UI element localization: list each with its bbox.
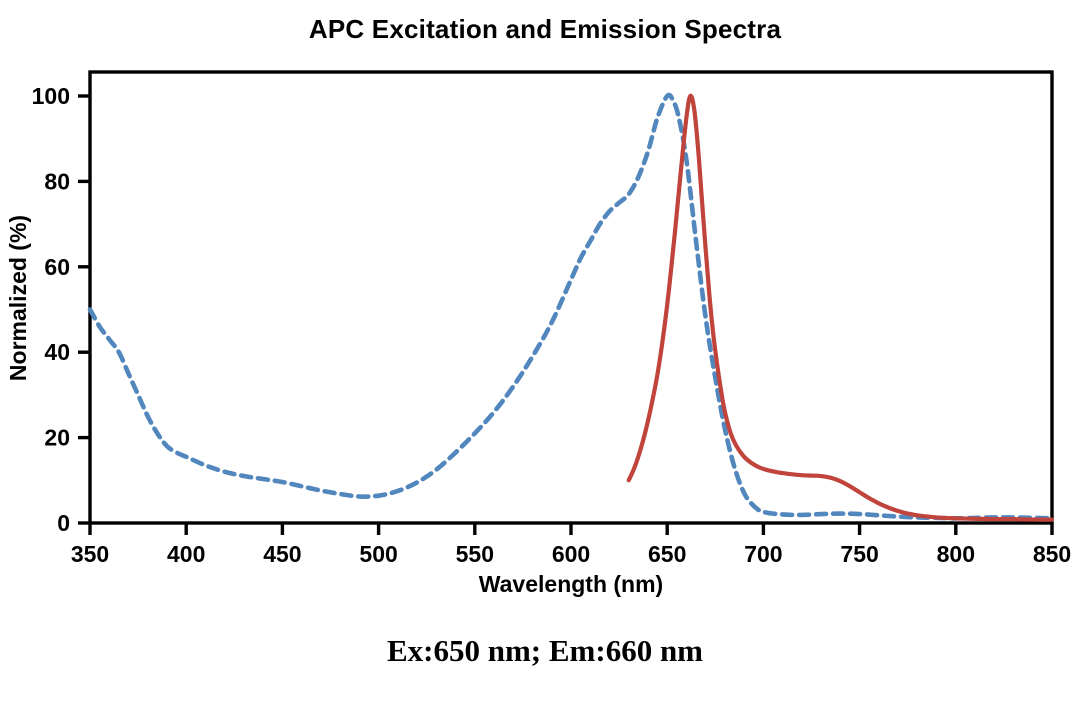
- y-tick-label: 0: [57, 510, 70, 536]
- y-axis-title: Normalized (%): [5, 215, 31, 381]
- x-tick-label: 500: [359, 541, 397, 567]
- y-tick-label: 20: [44, 425, 70, 451]
- x-tick-label: 600: [552, 541, 590, 567]
- plot-frame: [90, 72, 1052, 523]
- x-tick-label: 550: [456, 541, 494, 567]
- series-group: [90, 95, 1052, 520]
- x-tick-label: 650: [648, 541, 686, 567]
- x-tick-label: 800: [937, 541, 975, 567]
- x-tick-label: 350: [71, 541, 109, 567]
- y-tick-label: 40: [44, 339, 70, 365]
- x-tick-label: 850: [1033, 541, 1071, 567]
- x-tick-label: 700: [744, 541, 782, 567]
- x-axis-title: Wavelength (nm): [479, 571, 663, 597]
- y-axis-ticks: 020406080100: [32, 83, 90, 536]
- y-tick-label: 60: [44, 254, 70, 280]
- chart-caption: Ex:650 nm; Em:660 nm: [0, 633, 1090, 669]
- y-tick-label: 80: [44, 168, 70, 194]
- x-tick-label: 750: [840, 541, 878, 567]
- x-axis-ticks: 350400450500550600650700750800850: [71, 523, 1071, 567]
- spectra-plot: 020406080100 350400450500550600650700750…: [0, 0, 1090, 703]
- plot-border: [90, 72, 1052, 523]
- spectra-figure: APC Excitation and Emission Spectra 0204…: [0, 0, 1090, 703]
- series-emission-line: [629, 96, 1052, 520]
- x-tick-label: 400: [167, 541, 205, 567]
- x-tick-label: 450: [263, 541, 301, 567]
- series-excitation-line: [90, 95, 1052, 518]
- y-tick-label: 100: [32, 83, 70, 109]
